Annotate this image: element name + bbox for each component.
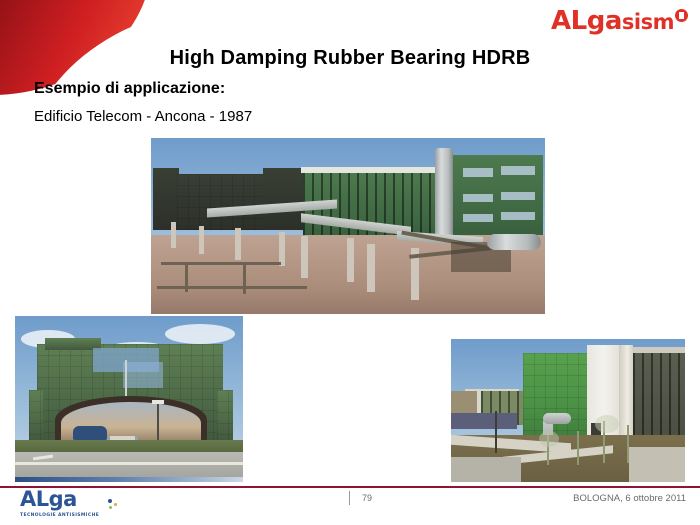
- photo-tree-canopy: [595, 415, 619, 433]
- photo-rail-post: [185, 262, 188, 292]
- photo-cloud: [165, 324, 235, 344]
- photo-pylon: [235, 228, 241, 260]
- photo-window: [501, 212, 535, 220]
- photo-telecom-facade: [451, 339, 685, 482]
- photo-window: [501, 192, 535, 200]
- footer-logo: ALga TECNOLOGIE ANTISISMICHE: [20, 489, 130, 518]
- photo-duct-elbow: [543, 413, 571, 424]
- photo-mast: [125, 360, 127, 400]
- footer-location-date: BOLOGNA, 6 ottobre 2011: [573, 493, 686, 504]
- photo-rail-post: [243, 264, 246, 294]
- registered-mark-icon: [675, 9, 688, 22]
- photo-silo-tower: [435, 148, 453, 240]
- photo-green-block: [523, 353, 587, 441]
- photo-reflection-panel: [123, 362, 163, 388]
- photo-parked-cars: [451, 413, 517, 429]
- photo-window: [463, 194, 493, 202]
- photo-pylon: [279, 232, 285, 266]
- photo-pylon: [367, 244, 375, 292]
- brand-logo-text: ALgasism: [551, 8, 674, 35]
- photo-rail: [161, 262, 281, 265]
- photo-pylon: [199, 226, 204, 254]
- page-title: High Damping Rubber Bearing HDRB: [0, 47, 700, 70]
- photo-pylon: [171, 222, 176, 248]
- photo-telecom-plaza: [151, 138, 545, 314]
- slide: ALgasism High Damping Rubber Bearing HDR…: [0, 0, 700, 525]
- photo-pylon: [301, 236, 308, 278]
- photo-car: [73, 426, 107, 440]
- photo-hedge: [15, 440, 243, 452]
- photo-pylon: [347, 238, 354, 282]
- footer-accent-bar: [15, 477, 243, 482]
- photo-cornice: [301, 167, 441, 173]
- footer-logo-text: ALga: [20, 487, 77, 511]
- photo-tree: [627, 425, 629, 463]
- photo-tree-canopy: [539, 431, 559, 447]
- footer-logo-tagline: TECNOLOGIE ANTISISMICHE: [20, 513, 130, 518]
- page-number: 79: [362, 493, 372, 503]
- photo-road-marking: [15, 462, 243, 465]
- section-caption: Edificio Telecom - Ancona - 1987: [34, 108, 252, 125]
- photo-hillside: [451, 391, 477, 413]
- photo-window: [463, 168, 493, 177]
- photo-light-fixture: [152, 400, 164, 404]
- photo-duct: [487, 234, 541, 250]
- footer-page-divider: [349, 491, 350, 505]
- brand-logo-upper: ALga: [551, 6, 622, 36]
- photo-building-dark-mid: [177, 174, 265, 230]
- photo-facade-wing-left: [29, 390, 43, 442]
- photo-window: [463, 214, 493, 222]
- photo-telecom-arch: [15, 316, 243, 478]
- photo-facade-wing-right: [217, 390, 233, 442]
- footer-logo-dots-icon: [106, 497, 122, 511]
- photo-lamp-post: [495, 411, 497, 453]
- photo-rail: [157, 286, 307, 289]
- brand-logo: ALgasism: [551, 8, 688, 38]
- photo-cornice: [633, 347, 685, 353]
- photo-paving: [451, 457, 521, 482]
- section-subtitle: Esempio di applicazione:: [34, 80, 225, 98]
- photo-paving: [629, 447, 685, 482]
- photo-building-far-left: [153, 168, 179, 230]
- photo-tree: [577, 431, 579, 465]
- brand-logo-lower: sism: [622, 10, 674, 34]
- footer-divider-rule: [0, 486, 700, 488]
- photo-window: [501, 166, 535, 175]
